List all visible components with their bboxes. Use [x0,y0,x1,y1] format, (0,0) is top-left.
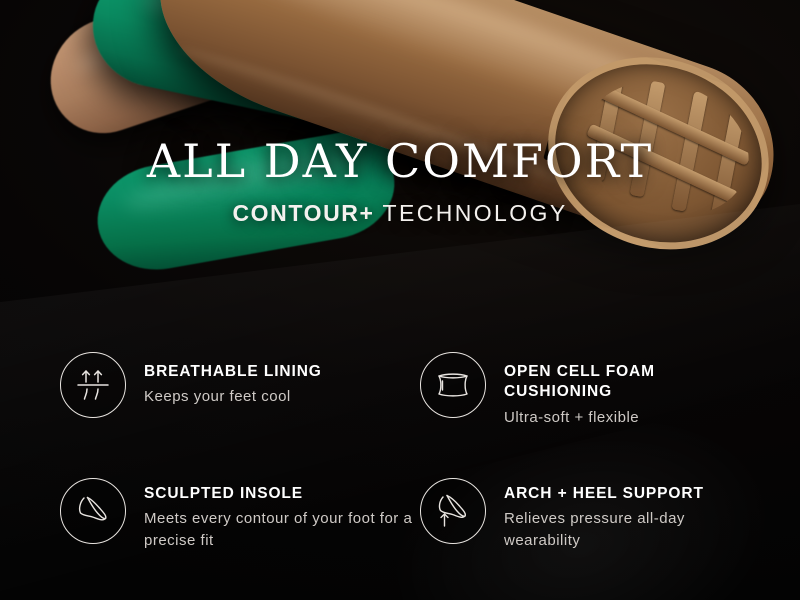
subtitle-technology: TECHNOLOGY [383,200,568,226]
arch-support-foot-arrow-icon [420,478,486,544]
headline-block: ALL DAY COMFORT CONTOUR+TECHNOLOGY [0,138,800,225]
foam-cushion-icon [420,352,486,418]
feature-item-arch-heel-support: ARCH + HEEL SUPPORT Relieves pressure al… [420,474,760,596]
brand-mark: CONTOUR+ [232,200,374,226]
feature-item-open-cell-foam-cushioning: OPEN CELL FOAM CUSHIONING Ultra-soft + f… [420,352,760,474]
feature-text-open-cell-foam-cushioning: OPEN CELL FOAM CUSHIONING Ultra-soft + f… [504,352,760,428]
sculpted-footprint-icon [60,478,126,544]
feature-item-sculpted-insole: SCULPTED INSOLE Meets every contour of y… [60,474,420,596]
feature-title: BREATHABLE LINING [144,362,322,382]
feature-title: SCULPTED INSOLE [144,484,420,504]
feature-description: Ultra-soft + flexible [504,407,760,428]
feature-grid: BREATHABLE LINING Keeps your feet cool O… [60,352,760,596]
feature-text-sculpted-insole: SCULPTED INSOLE Meets every contour of y… [144,474,420,551]
feature-item-breathable-lining: BREATHABLE LINING Keeps your feet cool [60,352,420,474]
page-title: ALL DAY COMFORT [0,138,800,184]
feature-text-arch-heel-support: ARCH + HEEL SUPPORT Relieves pressure al… [504,474,760,551]
feature-title: ARCH + HEEL SUPPORT [504,484,760,504]
feature-description: Meets every contour of your foot for a p… [144,508,420,551]
feature-text-breathable-lining: BREATHABLE LINING Keeps your feet cool [144,352,322,408]
feature-description: Relieves pressure all-day wearability [504,508,760,551]
subtitle: CONTOUR+TECHNOLOGY [0,202,800,225]
feature-description: Keeps your feet cool [144,386,322,407]
promo-banner: ALL DAY COMFORT CONTOUR+TECHNOLOGY BREAT… [0,0,800,600]
feature-title: OPEN CELL FOAM CUSHIONING [504,362,760,403]
breathable-arrows-icon [60,352,126,418]
